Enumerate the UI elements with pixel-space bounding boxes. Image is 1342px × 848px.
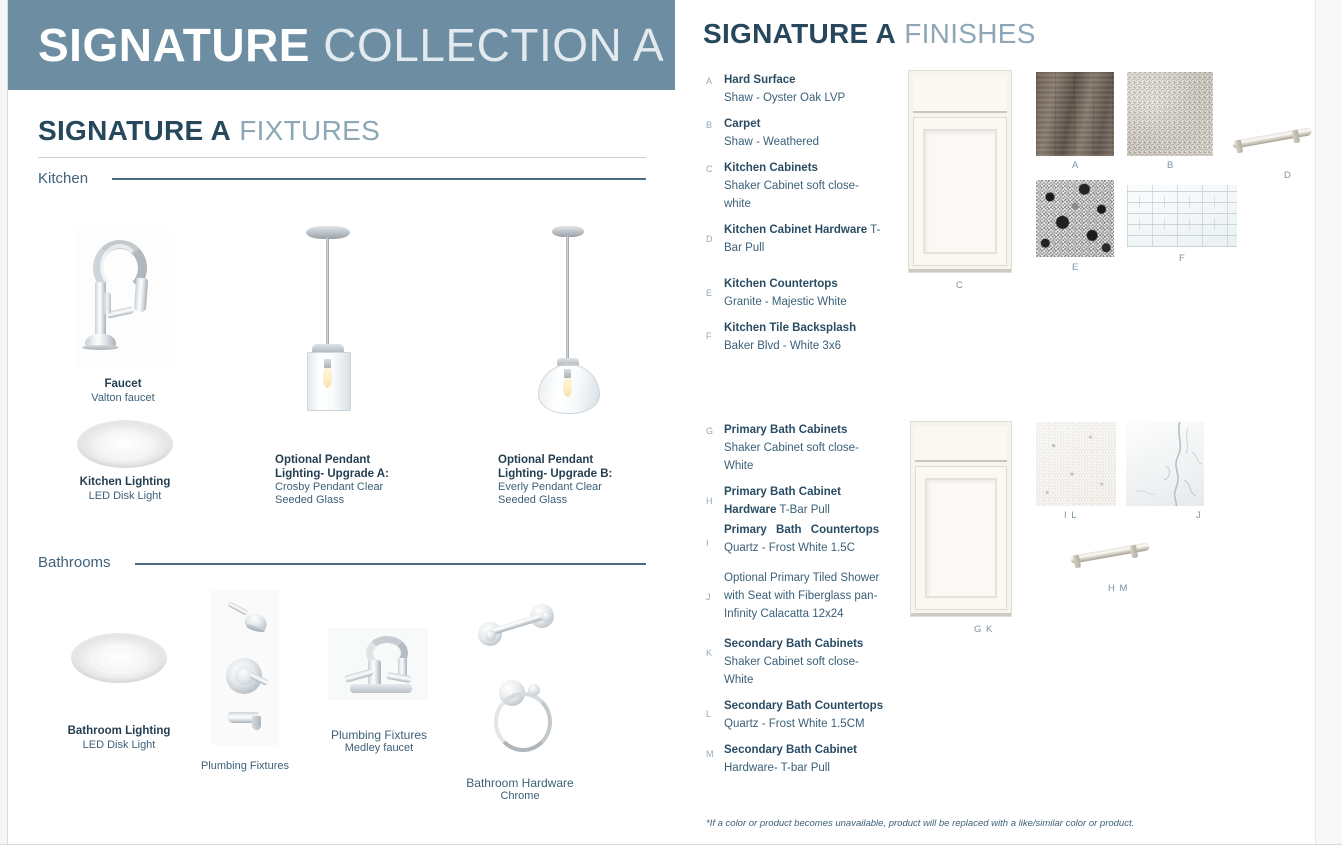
label-desc: Crosby Pendant Clear Seeded Glass xyxy=(275,481,399,507)
group-rule-kitchen xyxy=(112,178,646,180)
swatch-label-f: F xyxy=(1179,253,1186,264)
finish-head: Secondary Bath Cabinet xyxy=(724,744,857,756)
label-name: Plumbing Fixtures xyxy=(324,728,434,742)
kitchen-faucet-icon xyxy=(75,226,170,369)
finishes-list-bottom: G Primary Bath Cabinets Shaker Cabinet s… xyxy=(706,420,886,784)
finish-item-e: E Kitchen Countertops Granite - Majestic… xyxy=(706,274,886,310)
finish-item-h: H Primary Bath Cabinet Hardware T-Bar Pu… xyxy=(706,482,886,518)
fixtures-section-title: SIGNATURE A FIXTURES xyxy=(38,115,380,147)
finish-item-c: C Kitchen Cabinets Shaker Cabinet soft c… xyxy=(706,158,886,212)
cabinet-door-icon xyxy=(908,70,1012,273)
group-header-bathrooms: Bathrooms xyxy=(38,554,111,571)
finish-item-d: D Kitchen Cabinet Hardware T-Bar Pull xyxy=(706,220,886,256)
finish-sub: Baker Blvd - White 3x6 xyxy=(724,340,841,352)
finish-key: G xyxy=(706,426,713,436)
finish-sub: Optional Primary Tiled Shower with Seat … xyxy=(724,572,879,620)
finish-key: F xyxy=(706,331,712,341)
finish-head: Kitchen Tile Backsplash xyxy=(724,322,856,334)
cabinet-door-icon xyxy=(910,421,1012,617)
page-edge-left xyxy=(0,0,8,848)
subway-tile-icon xyxy=(1127,185,1237,247)
banner-title-light: COLLECTION A xyxy=(323,19,664,71)
swatch-bath-pull: H M xyxy=(1066,533,1156,575)
label-desc: LED Disk Light xyxy=(64,739,174,752)
finish-head: Primary Bath Cabinets xyxy=(724,424,847,436)
swatch-label-d: D xyxy=(1284,170,1292,181)
label-lav-faucet: Plumbing Fixtures Medley faucet xyxy=(324,728,434,755)
finish-key: A xyxy=(706,76,712,86)
finish-item-l: L Secondary Bath Countertops Quartz - Fr… xyxy=(706,696,886,732)
finish-key: I xyxy=(706,538,709,548)
finish-item-a: A Hard Surface Shaw - Oyster Oak LVP xyxy=(706,70,886,106)
finish-item-m: M Secondary Bath Cabinet Hardware- T-bar… xyxy=(706,740,886,776)
fixtures-column: SIGNATURE COLLECTION A SIGNATURE A FIXTU… xyxy=(8,0,675,845)
finish-sub: Granite - Majestic White xyxy=(724,296,847,308)
product-bathroom-lighting: Bathroom Lighting LED Disk Light xyxy=(71,633,167,683)
swatch-hard-surface: A xyxy=(1036,72,1114,156)
finish-sub: Shaw - Oyster Oak LVP xyxy=(724,92,845,104)
product-pendant-a: Optional Pendant Lighting- Upgrade A: Cr… xyxy=(290,226,366,406)
label-bathroom-hardware: Bathroom Hardware Chrome xyxy=(464,776,576,803)
finish-key: K xyxy=(706,648,712,658)
swatch-label-gk: G K xyxy=(974,624,993,635)
footnote-disclaimer: *If a color or product becomes unavailab… xyxy=(706,818,1134,829)
product-kitchen-lighting: Kitchen Lighting LED Disk Light xyxy=(77,420,173,468)
swatch-bath-cabinet: G K xyxy=(910,421,1012,617)
label-name: Faucet xyxy=(61,378,185,392)
finish-sub: Quartz - Frost White 1.5C xyxy=(724,542,855,554)
label-plumbing-fixtures: Plumbing Fixtures xyxy=(193,760,297,773)
finish-head: Secondary Bath Countertops xyxy=(724,700,883,712)
finish-sub: Quartz - Frost White 1.5CM xyxy=(724,718,865,730)
disk-light-icon xyxy=(77,420,173,468)
finish-head: Kitchen Cabinets xyxy=(724,162,818,174)
swatch-quartz: I L xyxy=(1036,422,1116,506)
group-rule-bathrooms xyxy=(135,563,646,565)
swatch-carpet: B xyxy=(1127,72,1213,156)
group-header-kitchen: Kitchen xyxy=(38,170,88,187)
disk-light-icon xyxy=(71,633,167,683)
finish-head: Kitchen Cabinet Hardware xyxy=(724,224,867,236)
finishes-title-strong: SIGNATURE A xyxy=(703,18,896,49)
product-pendant-b: Optional Pendant Lighting- Upgrade B: Ev… xyxy=(530,226,606,406)
finish-sub: Hardware- T-bar Pull xyxy=(724,762,830,774)
swatch-label-il: I L xyxy=(1064,510,1078,521)
swatch-backsplash: F xyxy=(1127,185,1237,247)
label-name: Kitchen Lighting xyxy=(65,476,185,490)
lvp-texture-icon xyxy=(1036,72,1114,156)
label-desc: LED Disk Light xyxy=(65,490,185,503)
label-kitchen-lighting: Kitchen Lighting LED Disk Light xyxy=(65,476,185,503)
finish-item-g: G Primary Bath Cabinets Shaker Cabinet s… xyxy=(706,420,886,474)
finish-head: Secondary Bath Cabinets xyxy=(724,638,863,650)
finish-head: Hard Surface xyxy=(724,74,796,86)
finish-sub: Shaker Cabinet soft close- white xyxy=(724,180,859,210)
banner-title: SIGNATURE COLLECTION A xyxy=(38,16,664,74)
finish-key: E xyxy=(706,288,712,298)
label-desc: Valton faucet xyxy=(61,392,185,405)
quartz-texture-icon xyxy=(1036,422,1116,506)
swatch-kitchen-pull: D xyxy=(1228,118,1318,160)
swatch-granite: E xyxy=(1036,180,1114,257)
swatch-label-hm: H M xyxy=(1108,583,1128,594)
finish-item-k: K Secondary Bath Cabinets Shaker Cabinet… xyxy=(706,634,886,688)
label-pendant-a: Optional Pendant Lighting- Upgrade A: Cr… xyxy=(275,454,399,507)
finishes-title-light: FINISHES xyxy=(904,18,1036,49)
finish-key: M xyxy=(706,749,714,759)
finish-head: Primary Bath Countertops xyxy=(724,524,879,536)
swatch-label-j: J xyxy=(1196,510,1202,521)
label-name: Bathroom Hardware xyxy=(464,776,576,790)
finish-item-j: J Optional Primary Tiled Shower with Sea… xyxy=(706,568,886,622)
label-name: Plumbing Fixtures xyxy=(193,760,297,773)
product-kitchen-faucet: Faucet Valton faucet xyxy=(75,226,170,369)
granite-texture-icon xyxy=(1036,180,1114,257)
finish-key: B xyxy=(706,120,712,130)
label-bathroom-lighting: Bathroom Lighting LED Disk Light xyxy=(64,725,174,752)
banner-title-strong: SIGNATURE xyxy=(38,19,310,71)
finish-item-b: B Carpet Shaw - Weathered xyxy=(706,114,886,150)
swatch-calacatta: J xyxy=(1126,422,1204,506)
finish-head: Carpet xyxy=(724,118,760,130)
product-bathroom-hardware: Bathroom Hardware Chrome xyxy=(468,584,572,754)
cylinder-pendant-icon xyxy=(290,226,366,406)
product-plumbing-fixtures: Plumbing Fixtures xyxy=(211,590,279,745)
label-pendant-b: Optional Pendant Lighting- Upgrade B: Ev… xyxy=(498,454,622,507)
finish-key: H xyxy=(706,496,713,506)
towel-bar-ring-icon xyxy=(468,584,572,754)
label-kitchen-faucet: Faucet Valton faucet xyxy=(61,378,185,405)
finish-key: L xyxy=(706,709,711,719)
product-lav-faucet: Plumbing Fixtures Medley faucet xyxy=(328,628,428,700)
shower-trim-icon xyxy=(211,590,279,745)
finish-sub: Shaker Cabinet soft close- White xyxy=(724,442,859,472)
swatch-label-a: A xyxy=(1072,160,1079,171)
fixtures-title-light: FIXTURES xyxy=(239,115,380,146)
finish-sub: Shaw - Weathered xyxy=(724,136,819,148)
swatch-label-b: B xyxy=(1167,160,1174,171)
swatch-label-c: C xyxy=(956,280,964,291)
label-desc: Chrome xyxy=(464,790,576,803)
t-bar-pull-icon xyxy=(1228,118,1318,160)
label-desc: Everly Pendant Clear Seeded Glass xyxy=(498,481,622,507)
finishes-list-top: A Hard Surface Shaw - Oyster Oak LVP B C… xyxy=(706,70,886,362)
finishes-column: SIGNATURE A FINISHES A Hard Surface Shaw… xyxy=(703,0,1316,845)
finish-head: Kitchen Countertops xyxy=(724,278,838,290)
page-canvas: SIGNATURE COLLECTION A SIGNATURE A FIXTU… xyxy=(8,0,1316,845)
label-name: Optional Pendant Lighting- Upgrade B: xyxy=(498,454,622,481)
finish-sub: Shaker Cabinet soft close- White xyxy=(724,656,859,686)
finish-sub: T-Bar Pull xyxy=(779,504,830,516)
swatch-kitchen-cabinet: C xyxy=(908,70,1012,273)
label-desc: Medley faucet xyxy=(324,742,434,755)
finish-key: C xyxy=(706,164,713,174)
page-edge-right xyxy=(1315,0,1342,848)
bell-pendant-icon xyxy=(530,226,606,406)
finish-key: D xyxy=(706,234,713,244)
finish-item-f: F Kitchen Tile Backsplash Baker Blvd - W… xyxy=(706,318,886,354)
marble-texture-icon xyxy=(1126,422,1204,506)
lav-faucet-icon xyxy=(328,628,428,700)
header-banner: SIGNATURE COLLECTION A xyxy=(8,0,675,90)
t-bar-pull-icon xyxy=(1066,533,1156,575)
swatch-label-e: E xyxy=(1072,262,1079,273)
carpet-texture-icon xyxy=(1127,72,1213,156)
fixtures-title-underline xyxy=(38,157,646,158)
finish-key: J xyxy=(706,592,711,602)
finishes-section-title: SIGNATURE A FINISHES xyxy=(703,18,1036,50)
finish-item-i: I Primary Bath Countertops Quartz - Fros… xyxy=(706,520,886,556)
label-name: Optional Pendant Lighting- Upgrade A: xyxy=(275,454,399,481)
fixtures-title-strong: SIGNATURE A xyxy=(38,115,231,146)
label-name: Bathroom Lighting xyxy=(64,725,174,739)
